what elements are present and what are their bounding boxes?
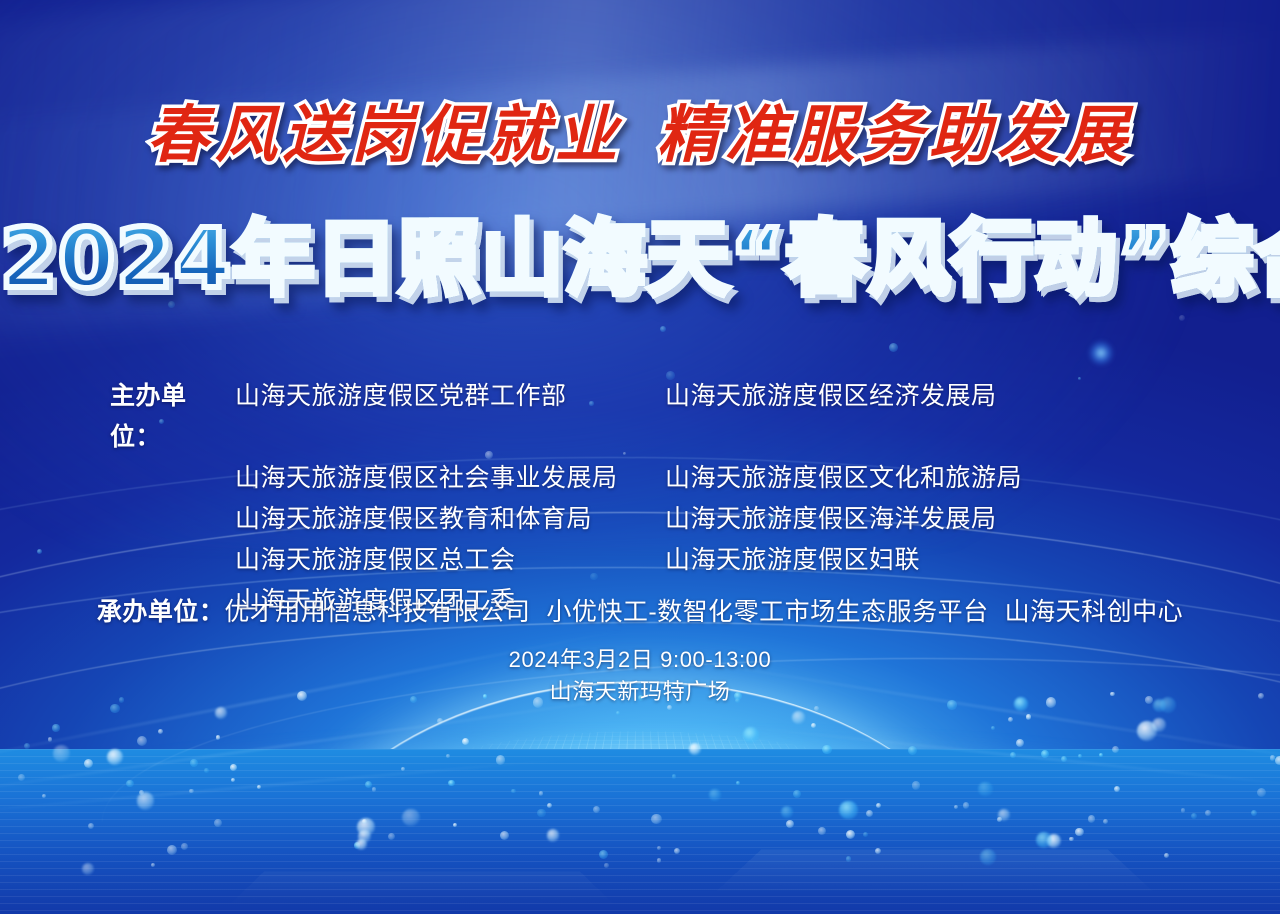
headline-part-1: 春风送岗促就业 xyxy=(147,98,623,171)
organizer-row: 山海天旅游度假区社会事业发展局 山海天旅游度假区文化和旅游局 xyxy=(110,458,1170,499)
event-details: 2024年3月2日 9:00-13:00 山海天新玛特广场 xyxy=(0,644,1280,708)
organizer-item: 山海天旅游度假区海洋发展局 xyxy=(665,499,1170,540)
organizer-row: 主办单位： 山海天旅游度假区党群工作部 山海天旅游度假区经济发展局 xyxy=(110,376,1170,458)
organizer-item: 山海天旅游度假区教育和体育局 xyxy=(235,499,665,540)
organizer-item: 山海天旅游度假区经济发展局 xyxy=(665,376,1170,458)
headline-slogan: 春风送岗促就业精准服务助发展 xyxy=(0,104,1280,166)
organizer-row: 山海天旅游度假区总工会 山海天旅游度假区妇联 xyxy=(110,540,1170,581)
event-venue: 山海天新玛特广场 xyxy=(0,676,1280,708)
headline-part-2: 精准服务助发展 xyxy=(657,98,1133,171)
poster-root: 春风送岗促就业精准服务助发展 2024年日照山海天“春风行动”综合招聘会 主办单… xyxy=(0,0,1280,914)
organizers-label-spacer xyxy=(110,540,235,581)
hosts-line: 承办单位：优才用用信息科技有限公司小优快工-数智化零工市场生态服务平台山海天科创… xyxy=(0,592,1280,628)
host-item: 山海天科创中心 xyxy=(1005,598,1184,626)
organizers-label-spacer xyxy=(110,499,235,540)
organizers-label-spacer xyxy=(110,458,235,499)
organizer-item: 山海天旅游度假区党群工作部 xyxy=(235,376,665,458)
organizer-item: 山海天旅游度假区文化和旅游局 xyxy=(665,458,1170,499)
organizer-item: 山海天旅游度假区妇联 xyxy=(665,540,1170,581)
host-item: 优才用用信息科技有限公司 xyxy=(224,598,530,626)
poster-content: 春风送岗促就业精准服务助发展 2024年日照山海天“春风行动”综合招聘会 主办单… xyxy=(0,0,1280,914)
organizers-label: 主办单位： xyxy=(110,376,235,458)
organizer-item: 山海天旅游度假区社会事业发展局 xyxy=(235,458,665,499)
organizers-block: 主办单位： 山海天旅游度假区党群工作部 山海天旅游度假区经济发展局 山海天旅游度… xyxy=(110,376,1170,622)
hosts-label: 承办单位： xyxy=(97,598,225,626)
organizer-item: 山海天旅游度假区总工会 xyxy=(235,540,665,581)
host-item: 小优快工-数智化零工市场生态服务平台 xyxy=(546,598,988,626)
event-datetime: 2024年3月2日 9:00-13:00 xyxy=(0,644,1280,676)
organizer-row: 山海天旅游度假区教育和体育局 山海天旅游度假区海洋发展局 xyxy=(110,499,1170,540)
page-title: 2024年日照山海天“春风行动”综合招聘会 xyxy=(0,214,1280,306)
